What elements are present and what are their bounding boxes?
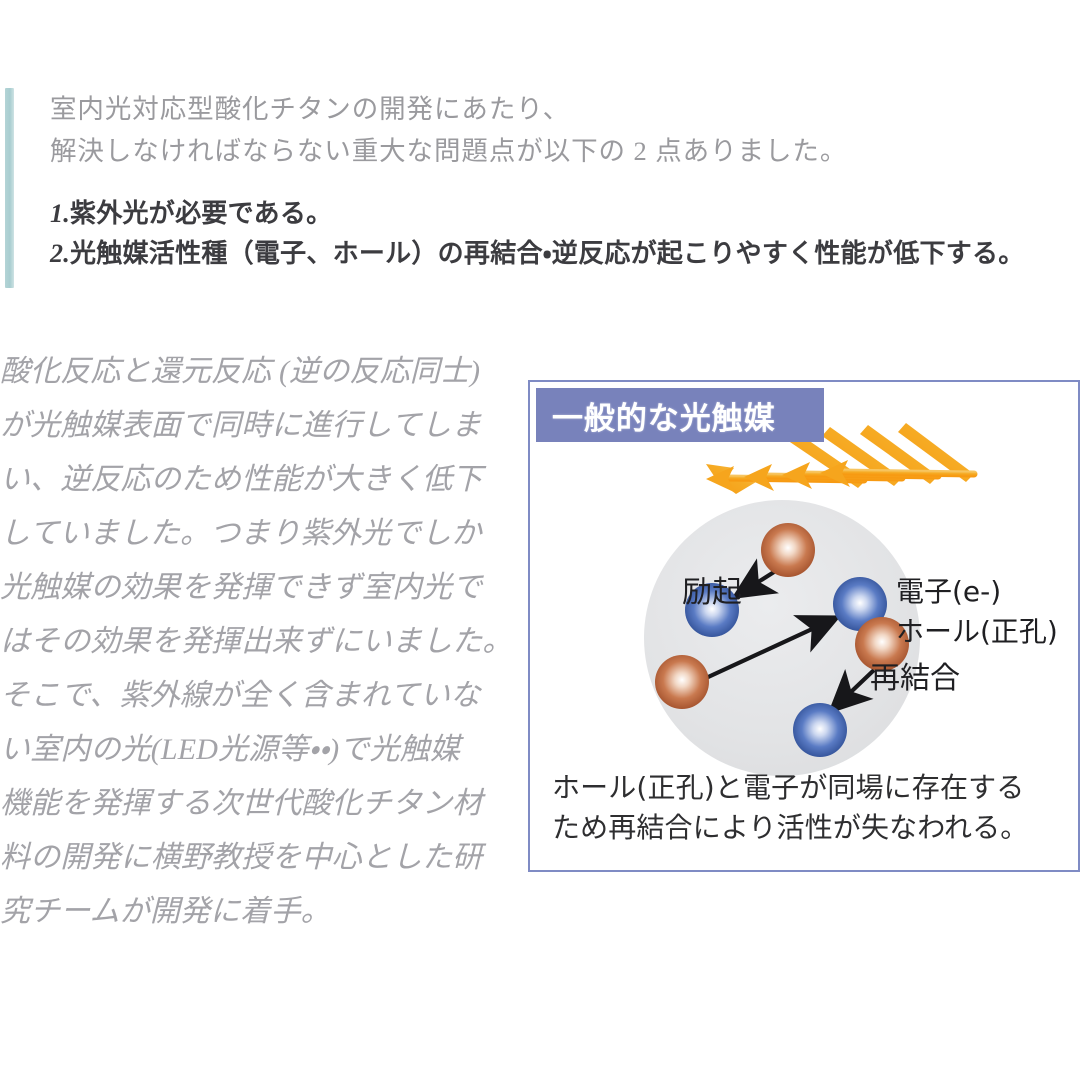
- callout-body: 室内光対応型酸化チタンの開発にあたり、 解決しなければならない重大な問題点が以下…: [50, 88, 1075, 274]
- callout-point-1: 1.紫外光が必要である。: [50, 194, 1075, 234]
- panel-title-banner: 一般的な光触媒: [536, 388, 824, 442]
- body-line: 機能を発揮する次世代酸化チタン材: [0, 777, 520, 831]
- callout-accent-rule: [5, 88, 14, 288]
- panel-title-label: 一般的な光触媒: [552, 393, 776, 438]
- callout-point-list: 1.紫外光が必要である。 2.光触媒活性種（電子、ホール）の再結合・逆反応が起こ…: [50, 194, 1075, 274]
- callout-lead-line-2: 解決しなければならない重大な問題点が以下の 2 点ありました。: [50, 130, 1075, 172]
- body-line: 究チームが開発に着手。: [0, 885, 520, 939]
- body-line: はその効果を発揮出来ずにいました。: [0, 615, 520, 669]
- callout-point-2: 2.光触媒活性種（電子、ホール）の再結合・逆反応が起こりやすく性能が低下する。: [50, 234, 1075, 274]
- body-text-column: 酸化反応と還元反応 (逆の反応同士) が光触媒表面で同時に進行してしま い、逆反…: [0, 345, 520, 939]
- intro-callout: 室内光対応型酸化チタンの開発にあたり、 解決しなければならない重大な問題点が以下…: [5, 88, 1075, 288]
- body-line: 光触媒の効果を発揮できず室内光で: [0, 561, 520, 615]
- page-root: 室内光対応型酸化チタンの開発にあたり、 解決しなければならない重大な問題点が以下…: [0, 0, 1080, 1080]
- body-line: が光触媒表面で同時に進行してしま: [0, 399, 520, 453]
- body-line: していました。つまり紫外光でしか: [0, 507, 520, 561]
- photocatalyst-diagram-panel: 励起 電子(e-) ホール(正孔) 再結合 一般的な光触媒 ホール(正孔)と電子…: [528, 380, 1080, 872]
- body-line: 料の開発に横野教授を中心とした研: [0, 831, 520, 885]
- callout-point-1-number: 1.: [50, 199, 70, 228]
- body-line: い、逆反応のため性能が大きく低下: [0, 453, 520, 507]
- panel-caption-line: ホール(正孔)と電子が同場に存在する: [552, 768, 1068, 808]
- panel-caption: ホール(正孔)と電子が同場に存在する ため再結合により活性が失なわれる。: [552, 768, 1068, 848]
- callout-point-1-text: 紫外光が必要である。: [70, 199, 332, 228]
- callout-lead-line-1: 室内光対応型酸化チタンの開発にあたり、: [50, 88, 1075, 130]
- hole-particle: [761, 523, 815, 577]
- hole-particle: [655, 655, 709, 709]
- electron-particle: [793, 703, 847, 757]
- label-excitation: 励起: [682, 578, 742, 608]
- label-hole: ホール(正孔): [896, 618, 1058, 646]
- label-recombination: 再結合: [870, 664, 960, 694]
- callout-point-2-number: 2.: [50, 239, 70, 268]
- body-line: そこで、紫外線が全く含まれていな: [0, 669, 520, 723]
- label-electron: 電子(e-): [896, 578, 1001, 606]
- body-line: 酸化反応と還元反応 (逆の反応同士): [0, 345, 520, 399]
- panel-caption-line: ため再結合により活性が失なわれる。: [552, 808, 1068, 848]
- body-line: い室内の光(LED光源等・・)で光触媒: [0, 723, 520, 777]
- callout-point-2-text: 光触媒活性種（電子、ホール）の再結合・逆反応が起こりやすく性能が低下する。: [70, 239, 1024, 268]
